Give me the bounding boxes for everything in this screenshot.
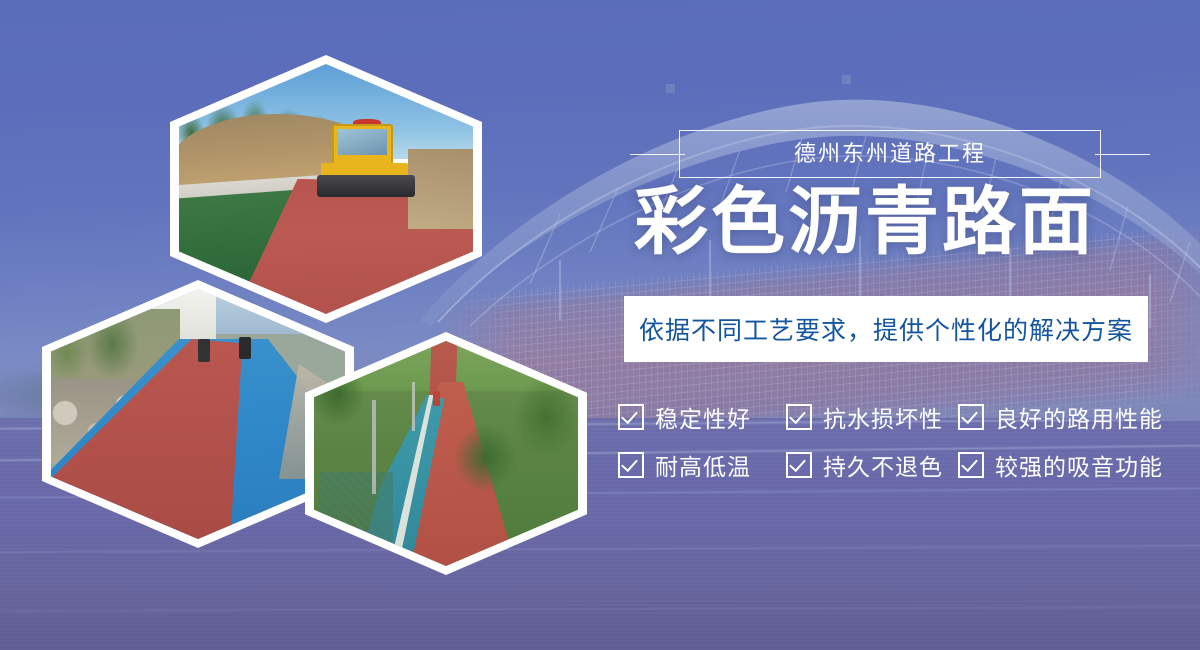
feature-item: 较强的吸音功能 (958, 448, 1184, 482)
road-roller-icon (317, 119, 423, 204)
hex-photo-greenway-path-image (314, 341, 578, 566)
feature-label: 稳定性好 (655, 400, 751, 434)
check-icon (958, 452, 984, 478)
feature-label: 抗水损坏性 (823, 400, 943, 434)
feature-list: 稳定性好 抗水损坏性 良好的路用性能 耐高低温 持久不退色 较强的吸音功能 (618, 393, 1184, 489)
check-icon (618, 404, 644, 430)
check-icon (786, 404, 812, 430)
eyebrow-text: 德州东州道路工程 (794, 143, 986, 165)
check-icon (958, 404, 984, 430)
feature-item: 良好的路用性能 (958, 400, 1184, 434)
eyebrow-rule-left (630, 154, 685, 155)
page-title: 彩色沥青路面 (634, 183, 1154, 261)
eyebrow-banner: 德州东州道路工程 (630, 131, 1150, 177)
feature-item: 稳定性好 (618, 400, 786, 434)
check-icon (618, 452, 644, 478)
feature-label: 较强的吸音功能 (995, 448, 1163, 482)
feature-label: 良好的路用性能 (995, 400, 1163, 434)
hex-photo-red-blue-road-image (51, 289, 345, 539)
subtitle-panel: 依据不同工艺要求，提供个性化的解决方案 (624, 296, 1148, 362)
eyebrow-rule-right (1095, 154, 1150, 155)
hex-photo-road-roller-image (179, 64, 473, 314)
promo-banner: 德州东州道路工程 彩色沥青路面 依据不同工艺要求，提供个性化的解决方案 稳定性好… (0, 0, 1200, 650)
check-icon (786, 452, 812, 478)
feature-label: 持久不退色 (823, 448, 943, 482)
feature-item: 耐高低温 (618, 448, 786, 482)
feature-item: 抗水损坏性 (786, 400, 958, 434)
eyebrow-box: 德州东州道路工程 (679, 130, 1101, 178)
feature-label: 耐高低温 (655, 448, 751, 482)
feature-item: 持久不退色 (786, 448, 958, 482)
subtitle-text: 依据不同工艺要求，提供个性化的解决方案 (639, 311, 1133, 347)
